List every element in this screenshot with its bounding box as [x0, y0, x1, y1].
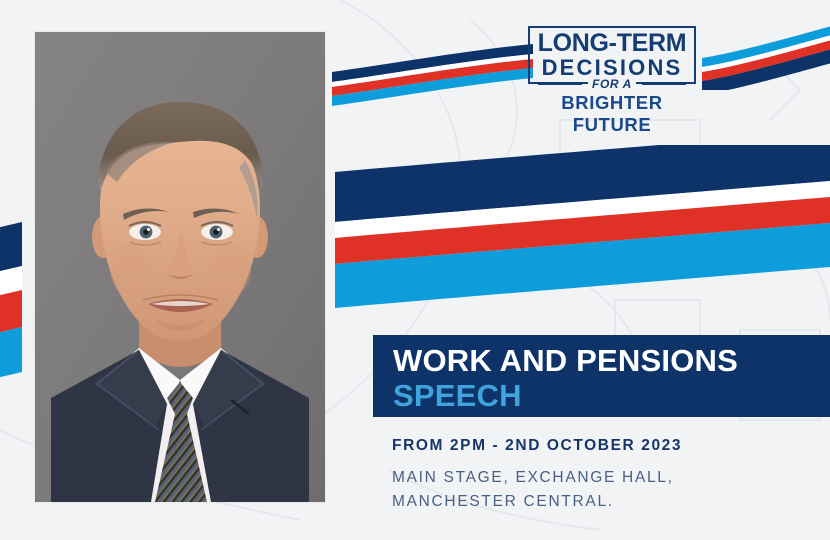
- ribbon-main-sweep: [330, 145, 830, 335]
- event-venue-line-2: MANCHESTER CENTRAL.: [392, 490, 822, 514]
- ribbon-logo-left: [330, 38, 535, 110]
- headline-secondary: SPEECH: [393, 379, 522, 412]
- event-venue-line-1: MAIN STAGE, EXCHANGE HALL,: [392, 466, 822, 490]
- logo-rule-right: [642, 83, 686, 86]
- ribbon-logo-right: [700, 18, 830, 90]
- ribbon-left-edge: [0, 210, 36, 390]
- logo-rule-left: [538, 83, 582, 86]
- logo-line-3: BRIGHTER FUTURE: [526, 92, 698, 136]
- campaign-logo: LONG-TERM DECISIONS FOR A BRIGHTER FUTUR…: [528, 26, 700, 110]
- logo-connector-row: FOR A: [528, 74, 696, 94]
- headline-primary: WORK AND PENSIONS: [393, 344, 738, 377]
- poster-canvas: LONG-TERM DECISIONS FOR A BRIGHTER FUTUR…: [0, 0, 830, 540]
- speaker-portrait: [35, 32, 325, 502]
- logo-line-1: LONG-TERM: [538, 31, 687, 56]
- logo-connector: FOR A: [588, 77, 636, 91]
- event-date: FROM 2PM - 2ND OCTOBER 2023: [392, 437, 822, 455]
- headline-banner: WORK AND PENSIONS SPEECH: [373, 335, 830, 417]
- event-details: FROM 2PM - 2ND OCTOBER 2023 MAIN STAGE, …: [392, 437, 822, 514]
